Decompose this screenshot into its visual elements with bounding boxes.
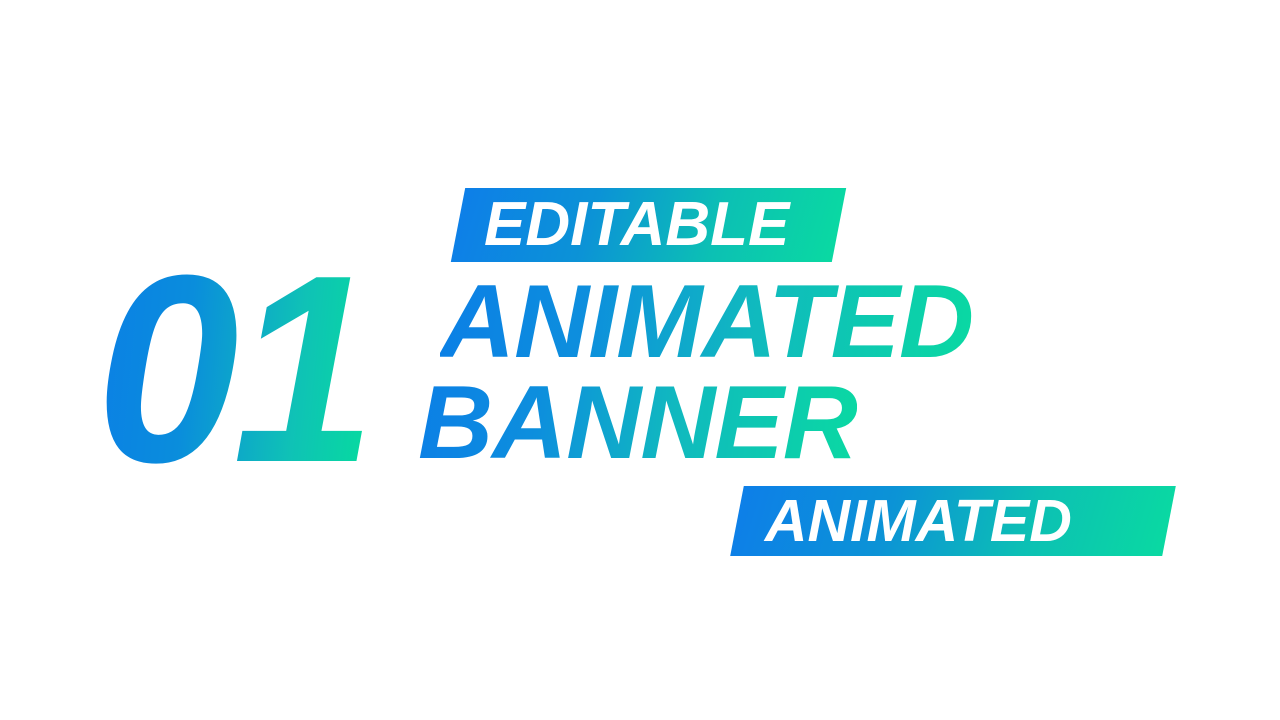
- number-block: 01: [96, 248, 426, 478]
- editable-tag-banner: EDITABLE: [451, 188, 846, 262]
- headline-number: 01: [96, 248, 370, 492]
- banner-canvas: 01 EDITABLE ANIMATED BANNER ANIMATED: [0, 0, 1280, 720]
- animated-tag-label: ANIMATED: [765, 492, 1072, 551]
- headline-line-animated: ANIMATED: [440, 270, 973, 374]
- animated-tag-banner: ANIMATED: [730, 486, 1176, 556]
- headline-line-banner: BANNER: [418, 371, 857, 475]
- editable-tag-label: EDITABLE: [484, 194, 789, 256]
